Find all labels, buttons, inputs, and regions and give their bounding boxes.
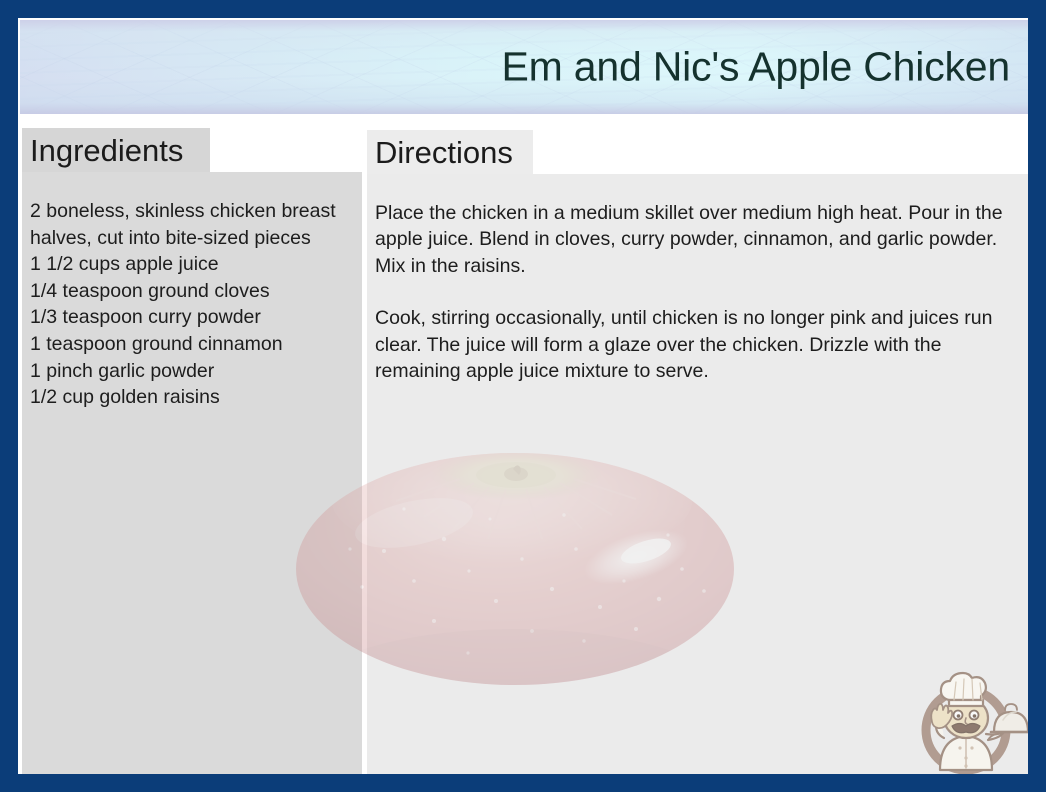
list-item: 1/3 teaspoon curry powder [30,304,348,331]
list-item: 1 teaspoon ground cinnamon [30,331,348,358]
ingredients-heading-label: Ingredients [30,135,183,166]
list-item: 1/2 cup golden raisins [30,384,348,411]
ingredients-panel-body: 2 boneless, skinless chicken breast halv… [22,172,362,774]
title-banner: Em and Nic's Apple Chicken [20,20,1028,114]
directions-heading-tab: Directions [367,130,533,174]
directions-paragraph: Cook, stirring occasionally, until chick… [375,305,1014,384]
slide-inner-mat: Em and Nic's Apple Chicken Ingredients 2… [18,18,1028,774]
page-title: Em and Nic's Apple Chicken [501,45,1010,88]
ingredients-heading-tab: Ingredients [22,128,210,172]
chef-logo [908,658,1028,774]
directions-heading-label: Directions [375,137,513,168]
directions-paragraph: Place the chicken in a medium skillet ov… [375,200,1014,279]
list-item: 1 pinch garlic powder [30,358,348,385]
ingredients-column: Ingredients 2 boneless, skinless chicken… [22,128,362,774]
list-item: 1/4 teaspoon ground cloves [30,278,348,305]
recipe-slide: Em and Nic's Apple Chicken Ingredients 2… [0,0,1046,792]
list-item: 1 1/2 cups apple juice [30,251,348,278]
list-item: 2 boneless, skinless chicken breast halv… [30,198,348,251]
